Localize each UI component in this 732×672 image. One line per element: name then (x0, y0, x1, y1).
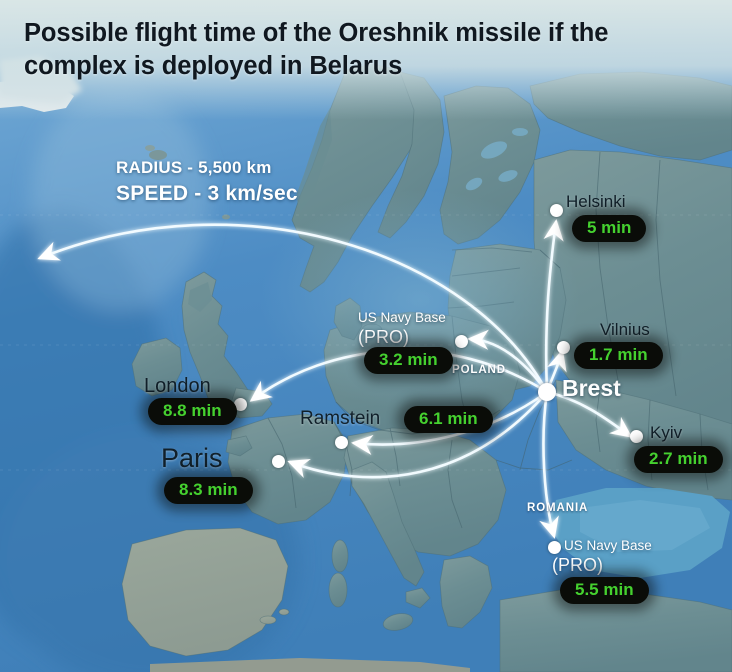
city-sublabel-navy-base-south: (PRO) (552, 555, 603, 576)
target-marker-ramstein[interactable] (335, 436, 348, 449)
flight-time-ramstein: 6.1 min (404, 406, 493, 433)
flight-time-kyiv: 2.7 min (634, 446, 723, 473)
target-marker-helsinki[interactable] (550, 204, 563, 217)
city-sublabel-navy-base-north: (PRO) (358, 327, 409, 348)
target-marker-kyiv[interactable] (630, 430, 643, 443)
city-label-kyiv: Kyiv (650, 423, 682, 443)
city-label-london: London (144, 375, 211, 398)
city-label-vilnius: Vilnius (600, 320, 650, 340)
title-line-2: complex is deployed in Belarus (24, 50, 664, 83)
spec-speed: SPEED - 3 km/sec (116, 182, 298, 206)
infographic-map: Possible flight time of the Oreshnik mis… (0, 0, 732, 672)
flight-time-vilnius: 1.7 min (574, 342, 663, 369)
origin-marker-brest[interactable] (538, 383, 556, 401)
city-label-ramstein: Ramstein (300, 408, 380, 430)
missile-specs: RADIUS - 5,500 km SPEED - 3 km/sec (116, 158, 298, 206)
target-marker-paris[interactable] (272, 455, 285, 468)
city-label-navy-base-south: US Navy Base (564, 538, 652, 553)
flight-time-navy-base-north: 3.2 min (364, 347, 453, 374)
title-line-1: Possible flight time of the Oreshnik mis… (24, 19, 608, 47)
region-label-poland: POLAND (452, 364, 506, 376)
target-marker-navy-base-north[interactable] (455, 335, 468, 348)
flight-time-london: 8.8 min (148, 398, 237, 425)
target-marker-navy-base-south[interactable] (548, 541, 561, 554)
spec-radius: RADIUS - 5,500 km (116, 158, 298, 178)
arc-to-navy-base-south (543, 392, 554, 536)
arc-to-helsinki (546, 222, 556, 392)
flight-time-navy-base-south: 5.5 min (560, 577, 649, 604)
city-label-paris: Paris (161, 443, 223, 474)
target-marker-vilnius[interactable] (557, 341, 570, 354)
flight-time-helsinki: 5 min (572, 215, 646, 242)
region-label-romania: ROMANIA (527, 502, 588, 514)
city-label-navy-base-north: US Navy Base (358, 310, 446, 325)
city-label-brest: Brest (562, 375, 621, 402)
flight-time-paris: 8.3 min (164, 477, 253, 504)
page-title: Possible flight time of the Oreshnik mis… (24, 17, 664, 83)
arc-to-paris (290, 392, 547, 477)
city-label-helsinki: Helsinki (566, 192, 626, 212)
